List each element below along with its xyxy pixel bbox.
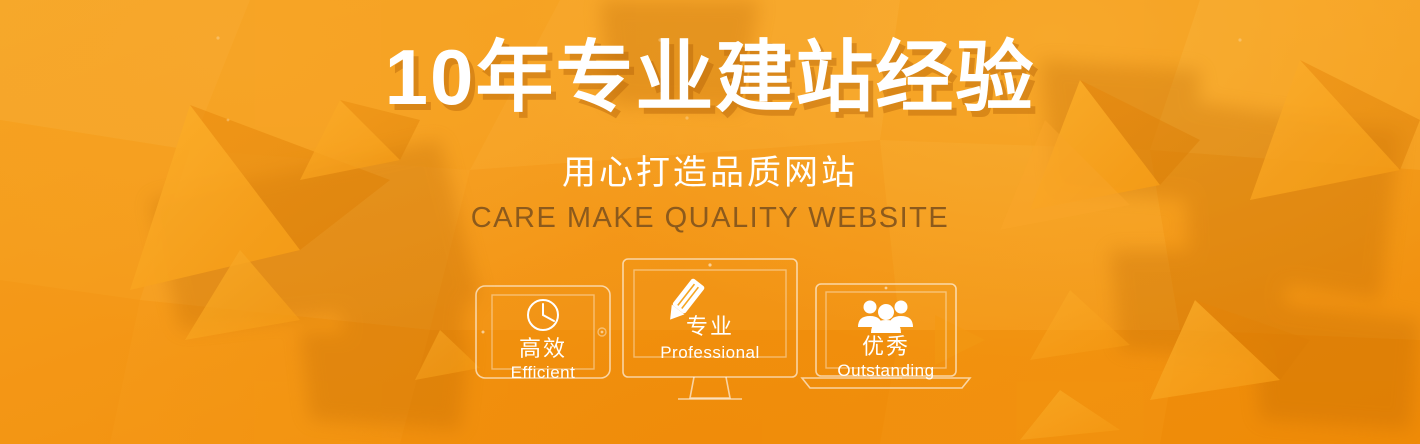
page-title: 10年专业建站经验 [0, 38, 1420, 116]
monitor-outline [620, 256, 800, 408]
feature-card-professional: 专业 Professional [620, 256, 800, 408]
pencil-icon [664, 278, 706, 325]
tablet-outline [468, 282, 618, 382]
feature-device-group: 高效 Efficient [0, 246, 1420, 406]
promo-banner: 10年专业建站经验 用心打造品质网站 CARE MAKE QUALITY WEB… [0, 0, 1420, 444]
laptop-outline [800, 282, 972, 392]
subtitle-english: CARE MAKE QUALITY WEBSITE [0, 204, 1420, 233]
feature-card-efficient: 高效 Efficient [468, 282, 618, 382]
clock-icon [528, 300, 558, 330]
feature-card-outstanding: 优秀 Outstanding [800, 282, 972, 392]
subtitle-chinese: 用心打造品质网站 [0, 156, 1420, 190]
people-group-icon [858, 301, 913, 334]
